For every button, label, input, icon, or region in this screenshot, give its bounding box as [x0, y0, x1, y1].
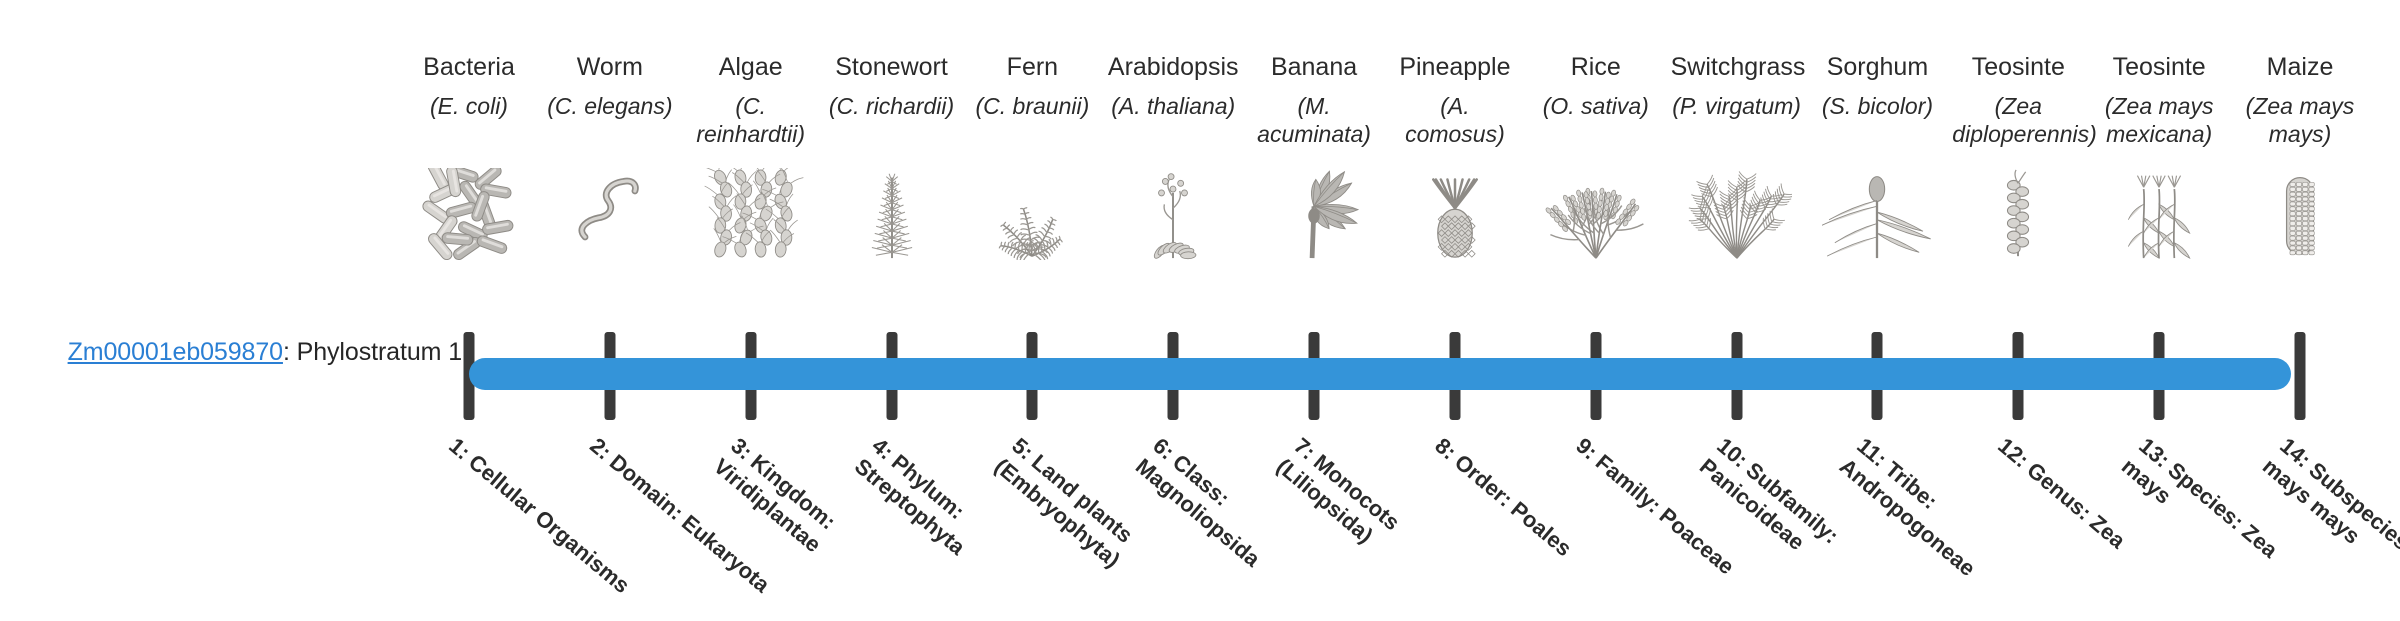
species-common-name: Bacteria [403, 52, 535, 82]
rice-icon [1541, 168, 1651, 260]
species-columns: Bacteria(E. coli) [462, 0, 2400, 580]
species-common-name: Teosinte [2093, 52, 2225, 82]
banana-icon [1259, 168, 1369, 260]
species-common-name: Worm [544, 52, 676, 82]
species-scientific-name: (A. comosus) [1389, 92, 1521, 148]
species-common-name: Teosinte [1952, 52, 2084, 82]
species-header: Algae(C. reinhardtii) [685, 52, 817, 148]
species-scientific-name: (C. braunii) [966, 92, 1098, 120]
arabidopsis-icon [1118, 168, 1228, 260]
maize-icon [2245, 168, 2355, 260]
species-header: Teosinte(Zea diploperennis) [1952, 52, 2084, 148]
species-scientific-name: (A. thaliana) [1107, 92, 1239, 120]
species-scientific-name: (Zea diploperennis) [1952, 92, 2084, 148]
species-scientific-name: (M. acuminata) [1248, 92, 1380, 148]
species-scientific-name: (S. bicolor) [1811, 92, 1943, 120]
species-common-name: Stonewort [826, 52, 958, 82]
label-separator: : [283, 338, 297, 366]
species-scientific-name: (C. elegans) [544, 92, 676, 120]
species-header: Banana(M. acuminata) [1248, 52, 1380, 148]
species-header: Switchgrass(P. virgatum) [1671, 52, 1803, 120]
species-header: Bacteria(E. coli) [403, 52, 535, 120]
species-common-name: Rice [1530, 52, 1662, 82]
species-header: Stonewort(C. richardii) [826, 52, 958, 120]
species-common-name: Algae [685, 52, 817, 82]
species-scientific-name: (C. richardii) [826, 92, 958, 120]
phylostratum-bar [469, 358, 2291, 390]
species-header: Worm(C. elegans) [544, 52, 676, 120]
species-scientific-name: (C. reinhardtii) [685, 92, 817, 148]
phylostratum-tick[interactable] [2295, 332, 2306, 420]
fern-icon [977, 168, 1087, 260]
species-header: Teosinte(Zea mays mexicana) [2093, 52, 2225, 148]
species-header: Rice(O. sativa) [1530, 52, 1662, 120]
gene-row-label: Zm00001eb059870: Phylostratum 1 [0, 338, 462, 367]
species-common-name: Banana [1248, 52, 1380, 82]
pineapple-icon [1400, 168, 1510, 260]
bacteria-icon [414, 168, 524, 260]
species-scientific-name: (Zea mays mays) [2234, 92, 2366, 148]
species-common-name: Sorghum [1811, 52, 1943, 82]
worm-icon [555, 168, 665, 260]
sorghum-icon [1822, 168, 1932, 260]
species-common-name: Arabidopsis [1107, 52, 1239, 82]
species-scientific-name: (E. coli) [403, 92, 535, 120]
species-header: Fern(C. braunii) [966, 52, 1098, 120]
species-header: Sorghum(S. bicolor) [1811, 52, 1943, 120]
switchgrass-icon [1682, 168, 1792, 260]
species-common-name: Pineapple [1389, 52, 1521, 82]
gene-id-link[interactable]: Zm00001eb059870 [68, 338, 283, 366]
species-scientific-name: (O. sativa) [1530, 92, 1662, 120]
algae-icon [696, 168, 806, 260]
teosinte-plant-icon [2104, 168, 2214, 260]
phylostratigraphy-timeline: Zm00001eb059870: Phylostratum 1 Bacteria… [0, 0, 2400, 580]
species-header: Arabidopsis(A. thaliana) [1107, 52, 1239, 120]
stonewort-icon [837, 168, 947, 260]
species-common-name: Maize [2234, 52, 2366, 82]
species-scientific-name: (Zea mays mexicana) [2093, 92, 2225, 148]
teosinte-ear-icon [1963, 168, 2073, 260]
species-header: Maize(Zea mays mays) [2234, 52, 2366, 148]
species-common-name: Switchgrass [1671, 52, 1803, 82]
species-scientific-name: (P. virgatum) [1671, 92, 1803, 120]
species-header: Pineapple(A. comosus) [1389, 52, 1521, 148]
species-common-name: Fern [966, 52, 1098, 82]
